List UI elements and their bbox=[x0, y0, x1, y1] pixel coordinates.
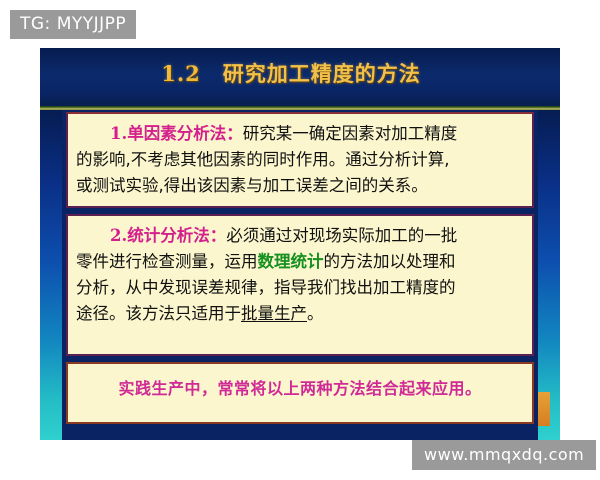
right-gradient-strip bbox=[538, 110, 560, 440]
text-line: 2.统计分析法：必须通过对现场实际加工的一批 bbox=[76, 223, 524, 249]
box2-line-4b: 。 bbox=[307, 304, 324, 323]
title-number: 1.2 bbox=[161, 61, 201, 86]
box2-lead-label: 2.统计分析法： bbox=[110, 226, 226, 245]
box1-lead-label: 1.单因素分析法： bbox=[110, 124, 243, 143]
title-label: 研究加工精度的方法 bbox=[223, 61, 421, 86]
box1-line-1: 研究某一确定因素对加工精度 bbox=[243, 124, 458, 143]
text-line: 1.单因素分析法：研究某一确定因素对加工精度 bbox=[76, 121, 524, 147]
watermark-top-left: TG: MYYJJPP bbox=[10, 10, 136, 39]
text-line: 零件进行检查测量，运用数理统计的方法加以处理和 bbox=[76, 249, 524, 275]
box2-line-3: 分析，从中发现误差规律，指导我们找出加工精度的 bbox=[76, 278, 456, 297]
watermark-bottom-right: www.mmqxdq.com bbox=[412, 440, 596, 470]
box2-line-2b: 的方法加以处理和 bbox=[324, 252, 456, 271]
text-line: 途径。该方法只适用于批量生产。 bbox=[76, 301, 524, 327]
box3-line-1: 实践生产中，常常将以上两种方法结合起来应用。 bbox=[118, 379, 481, 398]
title-divider bbox=[40, 106, 560, 110]
box2-line-1: 必须通过对现场实际加工的一批 bbox=[226, 226, 457, 245]
content-box-single-factor-analysis: 1.单因素分析法：研究某一确定因素对加工精度 的影响,不考虑其他因素的同时作用。… bbox=[66, 112, 534, 208]
text-line: 分析，从中发现误差规律，指导我们找出加工精度的 bbox=[76, 275, 524, 301]
content-box-conclusion: 实践生产中，常常将以上两种方法结合起来应用。 bbox=[66, 362, 534, 424]
slide-title-band: 1.2研究加工精度的方法 bbox=[40, 48, 560, 106]
box2-line-2a: 零件进行检查测量，运用 bbox=[76, 252, 258, 271]
content-box-statistical-analysis: 2.统计分析法：必须通过对现场实际加工的一批 零件进行检查测量，运用数理统计的方… bbox=[66, 214, 534, 356]
orange-accent-bar bbox=[538, 392, 550, 426]
box2-line-4a: 途径。该方法只适用于 bbox=[76, 304, 241, 323]
slide-canvas: 1.2研究加工精度的方法 1.单因素分析法：研究某一确定因素对加工精度 的影响,… bbox=[40, 48, 560, 440]
box1-line-2: 的影响,不考虑其他因素的同时作用。通过分析计算, bbox=[76, 150, 450, 169]
highlight-term-statistics: 数理统计 bbox=[258, 252, 324, 271]
text-line: 的影响,不考虑其他因素的同时作用。通过分析计算, bbox=[76, 147, 524, 173]
box1-line-3: 或测试实验,得出该因素与加工误差之间的关系。 bbox=[76, 176, 428, 195]
text-line: 实践生产中，常常将以上两种方法结合起来应用。 bbox=[76, 376, 524, 402]
text-line: 或测试实验,得出该因素与加工误差之间的关系。 bbox=[76, 173, 524, 199]
left-gradient-strip bbox=[40, 110, 62, 440]
page-title: 1.2研究加工精度的方法 bbox=[40, 58, 560, 88]
underlined-term-mass-production: 批量生产 bbox=[241, 304, 307, 323]
